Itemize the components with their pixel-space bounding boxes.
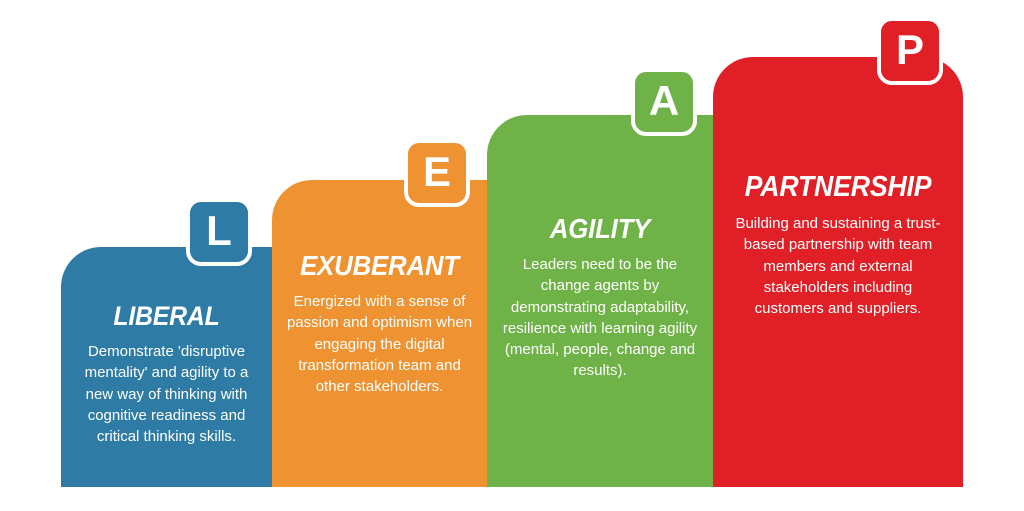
badge-letter-l[interactable]: L [186, 198, 252, 266]
badge-letter-a[interactable]: A [631, 68, 697, 136]
card-exuberant-title: EXUBERANT [290, 252, 469, 280]
badge-e-letter: E [423, 151, 451, 193]
card-agility-title: AGILITY [505, 215, 695, 243]
card-liberal-body: Demonstrate 'disruptive mentality' and a… [76, 341, 258, 447]
card-exuberant-content: EXUBERANT Energized with a sense of pass… [272, 252, 487, 397]
badge-l-letter: L [206, 210, 232, 252]
card-exuberant[interactable]: EXUBERANT Energized with a sense of pass… [272, 180, 487, 487]
infographic-canvas: PARTNERSHIP Building and sustaining a tr… [0, 0, 1024, 511]
card-agility-body: Leaders need to be the change agents by … [500, 254, 700, 382]
badge-letter-p[interactable]: P [877, 17, 943, 85]
badge-a-letter: A [649, 80, 679, 122]
card-liberal-content: LIBERAL Demonstrate 'disruptive mentalit… [61, 303, 272, 447]
card-partnership-content: PARTNERSHIP Building and sustaining a tr… [713, 173, 963, 319]
card-partnership-body: Building and sustaining a trust-based pa… [731, 213, 946, 319]
card-partnership[interactable]: PARTNERSHIP Building and sustaining a tr… [713, 57, 963, 487]
card-partnership-title: PARTNERSHIP [732, 173, 944, 202]
badge-p-letter: P [896, 29, 924, 71]
badge-letter-e[interactable]: E [404, 139, 470, 207]
card-agility[interactable]: AGILITY Leaders need to be the change ag… [487, 115, 713, 487]
card-exuberant-body: Energized with a sense of passion and op… [287, 291, 473, 397]
card-liberal-title: LIBERAL [79, 303, 255, 330]
card-liberal[interactable]: LIBERAL Demonstrate 'disruptive mentalit… [61, 247, 272, 487]
card-agility-content: AGILITY Leaders need to be the change ag… [487, 215, 713, 382]
